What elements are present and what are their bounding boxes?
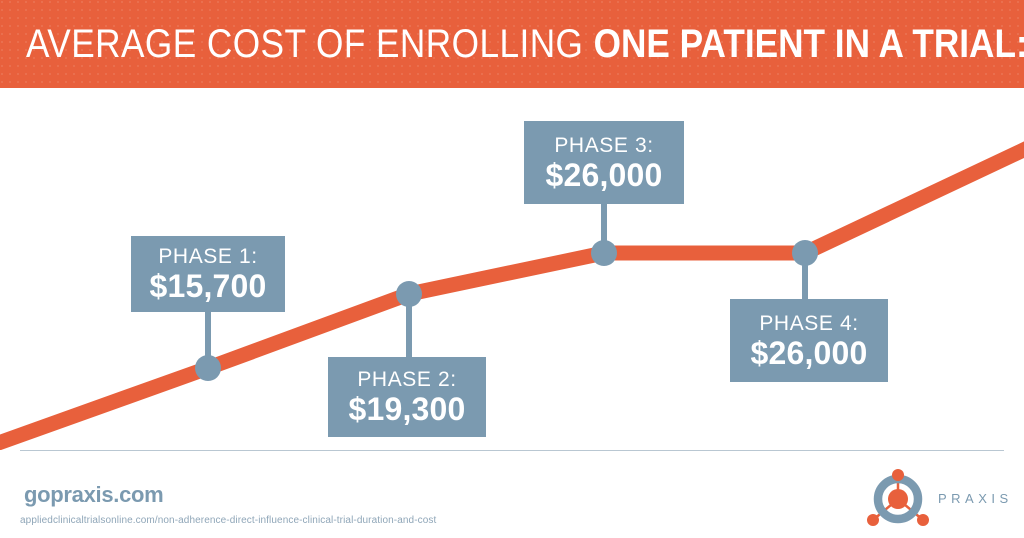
callout-phase-4[interactable]: PHASE 4: $26,000 [730,299,888,382]
callout-amount-value: $19,300 [348,392,465,427]
footer-divider [20,450,1004,451]
callout-phase-3[interactable]: PHASE 3: $26,000 [524,121,684,204]
infographic-canvas: AVERAGE COST OF ENROLLING ONE PATIENT IN… [0,0,1024,538]
callout-amount-value: $26,000 [545,158,662,193]
callout-phase-label: PHASE 3: [554,133,653,158]
callout-amount-value: $15,700 [149,269,266,304]
data-point-phase-1[interactable] [195,355,221,381]
callout-phase-label: PHASE 1: [158,244,257,269]
data-point-phase-3[interactable] [591,240,617,266]
header-banner: AVERAGE COST OF ENROLLING ONE PATIENT IN… [0,0,1024,88]
callout-phase-label: PHASE 4: [759,311,858,336]
data-point-phase-2[interactable] [396,281,422,307]
page-title-bold: ONE PATIENT IN A TRIAL: [594,22,1024,66]
page-title: AVERAGE COST OF ENROLLING ONE PATIENT IN… [26,24,1024,64]
callout-phase-label: PHASE 2: [357,367,456,392]
data-point-phase-4[interactable] [792,240,818,266]
callout-amount-value: $26,000 [750,336,867,371]
praxis-atom-logo-icon [862,468,934,530]
source-citation[interactable]: appliedclinicaltrialsonline.com/non-adhe… [20,515,436,526]
callout-phase-1[interactable]: PHASE 1: $15,700 [131,236,285,312]
page-title-light: AVERAGE COST OF ENROLLING [26,22,594,66]
praxis-wordmark: PRAXIS [938,491,1013,506]
brand-url[interactable]: gopraxis.com [24,482,163,508]
callout-phase-2[interactable]: PHASE 2: $19,300 [328,357,486,437]
